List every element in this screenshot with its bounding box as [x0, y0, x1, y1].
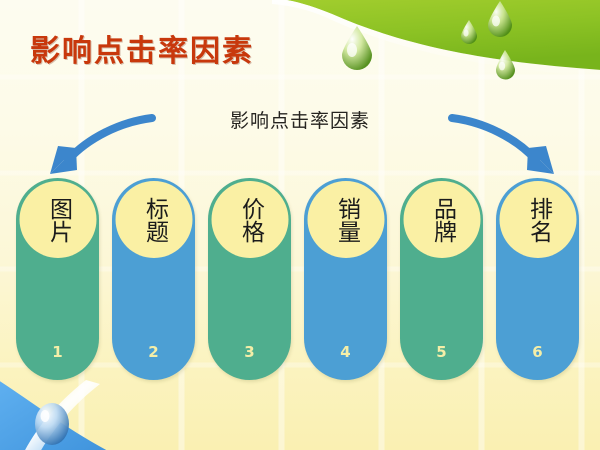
water-droplet-large	[342, 26, 372, 70]
subtitle: 影响点击率因素	[0, 106, 600, 133]
factor-pill-2[interactable]: 标题 2	[112, 178, 195, 380]
factor-label-3: 价格	[238, 197, 262, 243]
green-swoosh-decoration	[272, 0, 600, 90]
slide-canvas: 影响点击率因素 影响点击率因素 图片 1 标题 2 价格 3	[0, 0, 600, 450]
factor-circle-6: 排名	[499, 181, 576, 258]
water-droplet-small	[461, 20, 477, 44]
factor-pill-4[interactable]: 销量 4	[304, 178, 387, 380]
factor-pill-5[interactable]: 品牌 5	[400, 178, 483, 380]
factor-number-6: 6	[496, 343, 579, 361]
factor-label-6: 排名	[526, 197, 550, 243]
water-droplet-corner	[35, 403, 69, 445]
factor-number-3: 3	[208, 343, 291, 361]
factor-label-4: 销量	[334, 197, 358, 243]
factor-label-5: 品牌	[430, 197, 454, 243]
factor-circle-1: 图片	[19, 181, 96, 258]
factor-pill-6[interactable]: 排名 6	[496, 178, 579, 380]
factor-circle-2: 标题	[115, 181, 192, 258]
factor-label-1: 图片	[46, 197, 70, 243]
factor-pill-row: 图片 1 标题 2 价格 3 销量 4 品牌 5	[16, 178, 586, 380]
factor-number-5: 5	[400, 343, 483, 361]
factor-number-4: 4	[304, 343, 387, 361]
factor-number-2: 2	[112, 343, 195, 361]
water-droplet-bottom	[496, 50, 515, 80]
factor-circle-5: 品牌	[403, 181, 480, 258]
page-title: 影响点击率因素	[30, 26, 254, 70]
factor-circle-3: 价格	[211, 181, 288, 258]
factor-pill-3[interactable]: 价格 3	[208, 178, 291, 380]
factor-label-2: 标题	[142, 197, 166, 243]
blue-corner-decoration	[0, 380, 208, 450]
water-droplet-medium	[488, 1, 512, 37]
factor-number-1: 1	[16, 343, 99, 361]
factor-pill-1[interactable]: 图片 1	[16, 178, 99, 380]
factor-circle-4: 销量	[307, 181, 384, 258]
